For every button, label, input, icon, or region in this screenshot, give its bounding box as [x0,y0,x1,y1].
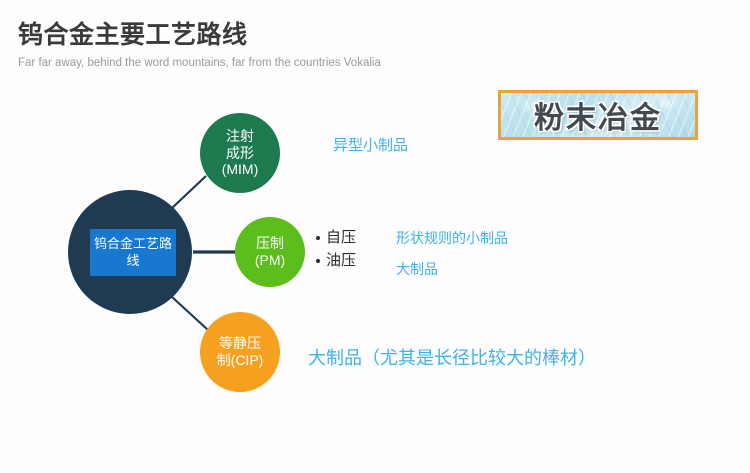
list-item: 自压 [316,226,356,249]
connector-hub-to-cip [172,297,208,330]
node-mim[interactable]: 注射 成形 (MIM) [200,113,280,193]
node-pm-label-line-1: 压制 [256,235,284,251]
bullet-dot-icon [316,259,320,263]
annotation-cip: 大制品（尤其是长径比较大的棒材） [308,344,596,370]
node-pm-label: 压制 (PM) [255,235,285,268]
node-cip-label: 等静压 制(CIP) [217,335,264,368]
node-cip-label-line-1: 等静压 [219,335,261,351]
annotation-pm-1: 形状规则的小制品 [396,228,508,248]
node-cip[interactable]: 等静压 制(CIP) [200,312,280,392]
annotation-mim: 异型小制品 [333,134,408,155]
node-pm-label-line-2: (PM) [255,252,285,268]
hub-label: 钨合金工艺路线 [90,236,176,269]
annotation-pm-2: 大制品 [396,259,438,279]
node-pm[interactable]: 压制 (PM) [235,217,305,287]
node-mim-label-line-3: (MIM) [222,161,259,177]
list-item: 油压 [316,249,356,272]
process-route-diagram: 钨合金工艺路线 注射 成形 (MIM) 压制 (PM) 等静压 制(CIP) 异… [0,0,750,473]
pm-bullet-list: 自压 油压 [316,226,356,273]
connector-hub-to-mim [172,176,206,208]
pm-bullet-1: 自压 [326,226,356,249]
node-mim-label-line-2: 成形 [226,145,254,161]
node-mim-label-line-1: 注射 [226,128,254,144]
pm-bullet-2: 油压 [326,249,356,272]
hub-label-chip[interactable]: 钨合金工艺路线 [90,229,176,276]
node-cip-label-line-2: 制(CIP) [217,352,264,368]
node-mim-label: 注射 成形 (MIM) [222,128,259,178]
bullet-dot-icon [316,236,320,240]
